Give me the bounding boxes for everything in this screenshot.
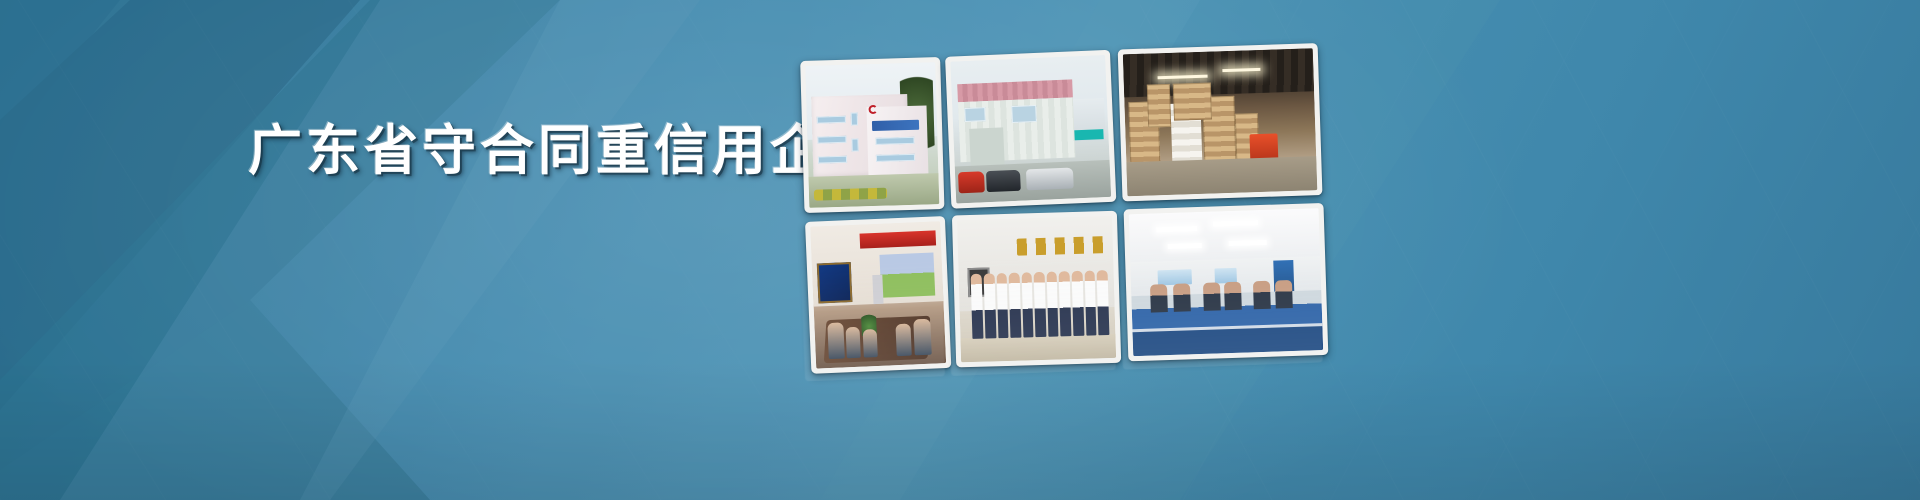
photo-meeting-room [805,216,951,374]
company-photo-grid [789,30,1341,380]
photo-plant-and-cars [945,50,1116,209]
photo-open-office [1124,203,1329,361]
photo-factory-exterior [800,57,944,213]
photo-warehouse [1118,43,1323,201]
company-honor-banner: 广东省守合同重信用企业 [0,0,1920,500]
wall-sign-text [1017,236,1107,256]
photo-staff-lineup [952,211,1121,368]
page-title: 广东省守合同重信用企业 [248,124,886,178]
